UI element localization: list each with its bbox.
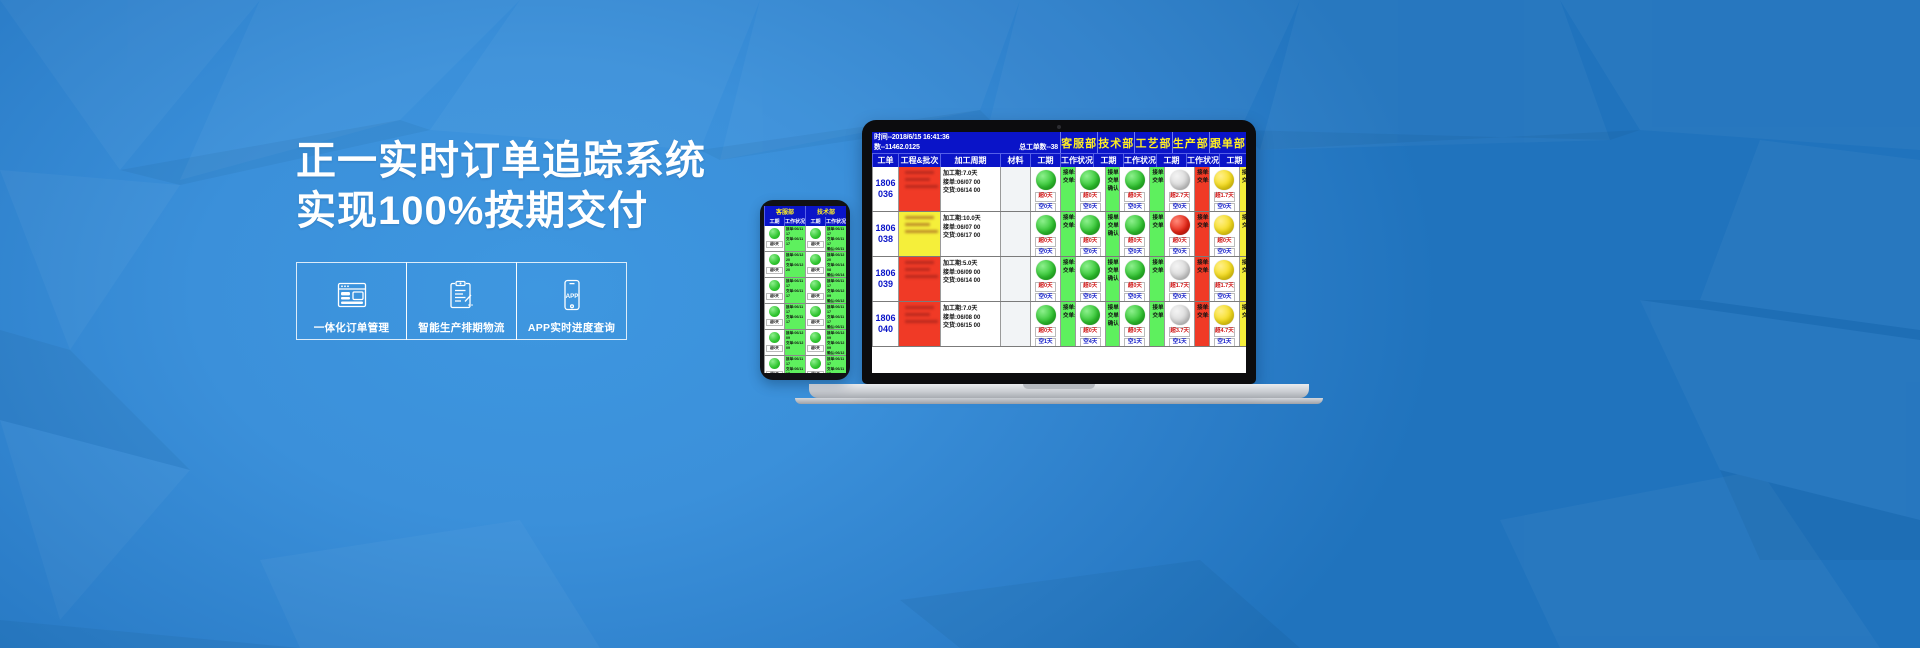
status-date: 交单:06/11 17 [1108, 177, 1118, 185]
status-lamp-green-icon [1125, 170, 1145, 190]
idle-badge: 空0天 [1169, 293, 1190, 302]
status-date: 交单:06/11 17 [1063, 267, 1073, 275]
status-lamp-green-icon [1080, 215, 1100, 235]
phone-status-lamp-green-icon [810, 358, 821, 369]
status-lamp-grey-icon [1170, 305, 1190, 325]
phone-overdue-badge: 超0天 [766, 293, 783, 300]
phone-duration-cell: 超0天 [805, 330, 825, 355]
idle-badge: 空0天 [1035, 293, 1056, 302]
work-status-cell-2[interactable]: 接单:06/11 17交单:06/11 17确认:06/11 17 [1105, 302, 1120, 346]
material-cell [1000, 302, 1030, 346]
work-status-cell-1[interactable]: 接单:06/11 17交单:06/11 17 [1060, 167, 1075, 211]
phone-status-date: 交单:06/11 17 [786, 367, 804, 373]
laptop-base [809, 384, 1309, 398]
duration-cell-4: 超3.7天空1天 [1164, 302, 1194, 346]
phone-overdue-badge: 超0天 [766, 267, 783, 274]
phone-status-lamp-green-icon [769, 254, 780, 265]
idle-badge: 空4天 [1080, 338, 1101, 347]
processing-cycle-cell: 加工期:7.0天接单:06/07 00交货:06/14 00 [940, 167, 1000, 211]
column-header-duration-1: 工期 [1030, 154, 1060, 167]
status-lamp-grey-icon [1170, 260, 1190, 280]
cycle-line: 加工期:7.0天 [943, 305, 998, 314]
phone-screen[interactable]: 客服部 技术部 工期 工作状况 工期 工作状况 超0天接单:06/11 17交单… [764, 206, 846, 373]
phone-status-date: 接单:06/12 09 [786, 331, 804, 341]
phone-column-header: 工期 工作状况 工期 工作状况 [764, 217, 846, 226]
phone-status-lamp-green-icon [769, 228, 780, 239]
feature-card-smart-scheduling[interactable]: 智能生产排期物流 [406, 262, 517, 340]
work-status-cell-4[interactable]: 接单:06/11 17交单: [1194, 302, 1209, 346]
phone-work-status-cell[interactable]: 接单:06/11 17交单:06/11 17 [784, 226, 805, 251]
work-status-cell-2[interactable]: 接单:06/12 20交单:06/14 08确认:06/14 08 [1105, 212, 1120, 256]
status-date: 接单:06/11 17 [1063, 169, 1073, 177]
status-date: 确认:06/11 17 [1108, 275, 1118, 283]
overdue-badge: 超2.7天 [1169, 192, 1190, 202]
table-row[interactable]: 1806036加工期:7.0天接单:06/07 00交货:06/14 00超0天… [872, 167, 1246, 212]
phone-work-status-cell[interactable]: 接单:06/11 17交单:06/11 17确认:06/11 17 [825, 356, 846, 373]
overdue-badge: 超4.7天 [1214, 327, 1235, 337]
table-row[interactable]: 1806040加工期:7.0天接单:06/08 00交货:06/15 00超0天… [872, 302, 1246, 347]
status-lamp-green-icon [1080, 305, 1100, 325]
project-batch-cell [898, 212, 940, 256]
cycle-line: 接单:06/09 00 [943, 269, 998, 278]
status-date: 接单:06/11 17 [1152, 259, 1162, 267]
clipboard-list-icon [449, 277, 475, 313]
phone-table-row[interactable]: 超0天接单:06/11 17交单:06/11 17超0天接单:06/11 17交… [764, 304, 846, 330]
status-lamp-green-icon [1036, 170, 1056, 190]
status-date: 接单: [1242, 214, 1244, 222]
cycle-line: 交货:06/14 00 [943, 277, 998, 286]
phone-dashboard-rows[interactable]: 超0天接单:06/11 17交单:06/11 17超0天接单:06/11 17交… [764, 226, 846, 373]
idle-badge: 空0天 [1169, 248, 1190, 257]
webcam-icon [1057, 125, 1061, 129]
status-date: 接单:06/11 17 [1108, 169, 1118, 177]
status-date: 接单:06/11 17 [1152, 304, 1162, 312]
phone-status-date: 接单:06/11 17 [827, 227, 845, 237]
phone-table-row[interactable]: 超0天接单:06/11 17交单:06/11 17超0天接单:06/11 17交… [764, 226, 846, 252]
phone-duration-cell: 超0天 [805, 226, 825, 251]
phone-work-status-cell[interactable]: 接单:06/11 17交单:06/11 17 [784, 356, 805, 373]
overdue-badge: 超3.7天 [1169, 327, 1190, 337]
status-lamp-green-icon [1125, 260, 1145, 280]
cycle-line: 加工期:10.0天 [943, 215, 998, 224]
headline-line-2: 实现100%按期交付 [296, 186, 716, 236]
phone-overdue-badge: 超0天 [766, 241, 783, 248]
processing-cycle-cell: 加工期:10.0天接单:06/07 00交货:06/17 00 [940, 212, 1000, 256]
phone-work-status-cell[interactable]: 接单:06/12 20交单:06/14 08确认:06/14 08 [825, 252, 846, 277]
project-batch-cell [898, 302, 940, 346]
phone-status-date: 交单:06/11 17 [827, 367, 845, 373]
idle-badge: 空0天 [1080, 203, 1101, 212]
material-cell [1000, 212, 1030, 256]
column-header-status-3: 工作状况 [1186, 154, 1219, 167]
phone-overdue-badge: 超0天 [766, 371, 783, 373]
cycle-line: 交货:06/17 00 [943, 232, 998, 241]
idle-badge: 空0天 [1124, 293, 1145, 302]
work-status-cell-4[interactable]: 接单:06/12 09交单: [1194, 167, 1209, 211]
column-header-status-1: 工作状况 [1060, 154, 1093, 167]
status-date: 交单: [1197, 177, 1207, 185]
feature-list: 一体化订单管理 智能生产排期物流 [296, 262, 626, 340]
idle-badge: 空0天 [1080, 248, 1101, 257]
cycle-line: 接单:06/07 00 [943, 224, 998, 233]
column-header-cycle: 加工周期 [940, 154, 1000, 167]
phone-status-lamp-green-icon [810, 228, 821, 239]
phone-table-row[interactable]: 超0天接单:06/12 20交单:06/12 20超0天接单:06/12 20交… [764, 252, 846, 278]
phone-status-lamp-green-icon [769, 306, 780, 317]
phone-status-lamp-green-icon [769, 332, 780, 343]
phone-column-status-1: 工作状况 [784, 217, 805, 226]
idle-badge: 空0天 [1214, 248, 1235, 257]
laptop-lid: 时间--2018/6/15 16:41:36 数--11462.0125 总工单… [862, 120, 1256, 384]
phone-status-date: 交单:06/11 17 [786, 315, 804, 325]
status-date: 接单:06/11 17 [1063, 304, 1073, 312]
project-batch-cell [898, 257, 940, 301]
status-date: 确认:06/14 08 [1108, 230, 1118, 238]
material-cell [1000, 167, 1030, 211]
phone-table-row[interactable]: 超0天接单:06/11 17交单:06/11 17超0天接单:06/11 17交… [764, 356, 846, 373]
idle-badge: 空0天 [1035, 203, 1056, 212]
status-date: 接单:06/11 17 [1108, 259, 1118, 267]
idle-badge: 空0天 [1214, 203, 1235, 212]
work-status-cell-2[interactable]: 接单:06/11 17交单:06/11 17确认:06/11 17 [1105, 167, 1120, 211]
phone-column-status-2: 工作状况 [825, 217, 846, 226]
duration-cell-5: 超1.7天空0天 [1209, 257, 1239, 301]
promo-banner: 正一实时订单追踪系统 实现100%按期交付 一体化订单管理 [0, 0, 1920, 648]
status-date: 接单:06/12 09 [1197, 169, 1207, 177]
overdue-badge: 超0天 [1124, 237, 1145, 247]
status-date: 交单: [1242, 177, 1244, 185]
status-lamp-yellow-icon [1214, 215, 1234, 235]
column-header-row: 工单 工程&批次 加工周期 材料 工期 工作状况 工期 工作状况 工期 工作状况… [872, 153, 1246, 167]
work-status-cell-3[interactable]: 接单:06/11 17交单:06/11 17 [1149, 302, 1164, 346]
idle-badge: 空0天 [1124, 248, 1145, 257]
work-status-cell-5[interactable]: 接单:交单: [1239, 302, 1246, 346]
phone-status-date: 接单:06/12 20 [786, 253, 804, 263]
status-date: 接单:06/11 17 [1152, 169, 1162, 177]
cycle-line: 加工期:5.0天 [943, 260, 998, 269]
work-status-cell-1[interactable]: 接单:06/11 17交单:06/11 17 [1060, 302, 1075, 346]
work-status-cell-4[interactable]: 接单:06/12 09交单: [1194, 257, 1209, 301]
headline-line-1: 正一实时订单追踪系统 [296, 136, 716, 186]
phone-duration-cell: 超0天 [764, 252, 784, 277]
order-tracking-dashboard[interactable]: 时间--2018/6/15 16:41:36 数--11462.0125 总工单… [872, 132, 1246, 373]
material-cell [1000, 257, 1030, 301]
phone-overdue-badge: 超0天 [807, 319, 824, 326]
idle-badge: 空0天 [1124, 203, 1145, 212]
status-date: 交单: [1242, 312, 1244, 320]
phone-duration-cell: 超0天 [764, 278, 784, 303]
status-date: 交单:06/12 09 [1152, 267, 1162, 275]
phone-status-date: 交单:06/12 20 [786, 263, 804, 273]
phone-duration-cell: 超0天 [764, 304, 784, 329]
overdue-badge: 超0天 [1124, 282, 1145, 292]
status-date: 交单:06/12 09 [1152, 177, 1162, 185]
status-date: 交单: [1242, 222, 1244, 230]
duration-cell-5: 超4.7天空1天 [1209, 302, 1239, 346]
status-lamp-green-icon [1080, 260, 1100, 280]
column-header-duration-2: 工期 [1093, 154, 1123, 167]
cycle-line: 接单:06/07 00 [943, 179, 998, 188]
phone-overdue-badge: 超0天 [807, 345, 824, 352]
column-header-project-batch: 工程&批次 [898, 154, 940, 167]
dashboard-window-icon [337, 277, 367, 313]
cycle-line: 加工期:7.0天 [943, 170, 998, 179]
phone-status-lamp-green-icon [810, 280, 821, 291]
phone-status-date: 接单:06/11 17 [827, 279, 845, 289]
phone-overdue-badge: 超0天 [807, 371, 824, 373]
idle-badge: 空1天 [1124, 338, 1145, 347]
duration-cell-5: 超1.7天空0天 [1209, 167, 1239, 211]
mobile-app-icon: APP [561, 277, 583, 313]
phone-duration-cell: 超0天 [805, 304, 825, 329]
phone-duration-cell: 超0天 [764, 226, 784, 251]
status-date: 接单:06/12 20 [1108, 214, 1118, 222]
phone-work-status-cell[interactable]: 接单:06/12 20交单:06/12 20 [784, 252, 805, 277]
processing-cycle-cell: 加工期:5.0天接单:06/09 00交货:06/14 00 [940, 257, 1000, 301]
duration-cell-1: 超0天空0天 [1030, 212, 1060, 256]
duration-cell-3: 超0天空1天 [1119, 302, 1149, 346]
phone-status-date: 交单:06/14 08 [827, 263, 845, 273]
phone-status-date: 接单:06/11 17 [786, 227, 804, 237]
duration-cell-5: 超0天空0天 [1209, 212, 1239, 256]
work-status-cell-5[interactable]: 接单:交单: [1239, 167, 1246, 211]
idle-badge: 空1天 [1169, 338, 1190, 347]
order-number-cell: 1806040 [872, 302, 898, 346]
dashboard-info-block: 时间--2018/6/15 16:41:36 数--11462.0125 总工单… [872, 132, 1060, 153]
status-date: 接单: [1242, 259, 1244, 267]
phone-overdue-badge: 超0天 [766, 319, 783, 326]
idle-badge: 空1天 [1035, 338, 1056, 347]
status-date: 交单: [1242, 267, 1244, 275]
phone-duration-cell: 超0天 [805, 252, 825, 277]
status-date: 确认:06/11 17 [1108, 320, 1118, 328]
phone-status-date: 交单:06/11 17 [827, 237, 845, 247]
duration-cell-2: 超0天空4天 [1075, 302, 1105, 346]
phone-work-status-cell[interactable]: 接单:06/11 17交单:06/11 17确认:06/11 17 [825, 304, 846, 329]
phone-column-duration-2: 工期 [805, 217, 825, 226]
order-number-cell: 1806036 [872, 167, 898, 211]
phone-work-status-cell[interactable]: 接单:06/11 17交单:06/11 17确认:06/11 17 [825, 226, 846, 251]
phone-work-status-cell[interactable]: 接单:06/11 17交单:06/12 09确认:06/12 09 [825, 278, 846, 303]
phone-status-date: 交单:06/11 17 [786, 289, 804, 299]
work-status-cell-3[interactable]: 接单:06/14 08交单:06/14 14 [1149, 212, 1164, 256]
phone-status-date: 交单:06/12 09 [786, 341, 804, 351]
column-header-order: 工单 [872, 154, 898, 167]
overdue-badge: 超0天 [1080, 282, 1101, 292]
phone-body: 客服部 技术部 工期 工作状况 工期 工作状况 超0天接单:06/11 17交单… [760, 200, 850, 380]
overdue-badge: 超0天 [1035, 327, 1056, 337]
phone-status-date: 交单:06/11 17 [786, 237, 804, 247]
department-title-production: 生产部 [1172, 132, 1209, 153]
work-status-cell-4[interactable]: 接单:06/14 14交单: [1194, 212, 1209, 256]
status-lamp-grey-icon [1170, 170, 1190, 190]
status-date: 接单:06/11 17 [1197, 304, 1207, 312]
phone-duration-cell: 超0天 [805, 278, 825, 303]
status-date: 接单:06/14 08 [1152, 214, 1162, 222]
idle-badge: 空0天 [1214, 293, 1235, 302]
work-status-cell-1[interactable]: 接单:06/11 17交单:06/11 17 [1060, 257, 1075, 301]
dashboard-total-orders: 总工单数--38 [1019, 143, 1058, 153]
status-date: 交单:06/11 17 [1152, 312, 1162, 320]
phone-status-lamp-green-icon [769, 358, 780, 369]
status-date: 交单: [1197, 312, 1207, 320]
laptop-mockup: 时间--2018/6/15 16:41:36 数--11462.0125 总工单… [862, 120, 1323, 404]
phone-table-row[interactable]: 超0天接单:06/11 17交单:06/11 17超0天接单:06/11 17交… [764, 278, 846, 304]
work-status-cell-5[interactable]: 接单:交单: [1239, 257, 1246, 301]
laptop-foot [795, 398, 1323, 404]
status-date: 接单: [1242, 169, 1244, 177]
phone-status-lamp-green-icon [810, 332, 821, 343]
dashboard-header: 时间--2018/6/15 16:41:36 数--11462.0125 总工单… [872, 132, 1246, 153]
phone-duration-cell: 超0天 [805, 356, 825, 373]
department-title-merchandising: 跟单部 [1209, 132, 1246, 153]
idle-badge: 空0天 [1169, 203, 1190, 212]
phone-column-duration-1: 工期 [764, 217, 784, 226]
phone-status-date: 交单:06/12 09 [827, 341, 845, 351]
overdue-badge: 超0天 [1124, 192, 1145, 202]
phone-duration-cell: 超0天 [764, 330, 784, 355]
phone-notch [790, 200, 820, 206]
phone-table-row[interactable]: 超0天接单:06/12 09交单:06/12 09超0天接单:06/12 09交… [764, 330, 846, 356]
duration-cell-3: 超0天空0天 [1119, 167, 1149, 211]
dashboard-count: 数--11462.0125 [874, 144, 920, 151]
feature-label: APP实时进度查询 [528, 320, 615, 335]
overdue-badge: 超1.7天 [1214, 192, 1235, 202]
laptop-trackpad-notch [1023, 384, 1095, 389]
column-header-material: 材料 [1000, 154, 1030, 167]
phone-status-date: 接单:06/11 17 [827, 305, 845, 315]
phone-status-date: 接单:06/11 17 [827, 357, 845, 367]
phone-status-date: 接单:06/11 17 [786, 279, 804, 289]
duration-cell-1: 超0天空0天 [1030, 167, 1060, 211]
work-status-cell-1[interactable]: 接单:06/12 20交单:06/12 20 [1060, 212, 1075, 256]
idle-badge: 空0天 [1080, 293, 1101, 302]
overdue-badge: 超0天 [1035, 192, 1056, 202]
status-date: 交单:06/14 08 [1108, 222, 1118, 230]
device-mockups: 时间--2018/6/15 16:41:36 数--11462.0125 总工单… [740, 110, 1380, 530]
cycle-line: 交货:06/14 00 [943, 187, 998, 196]
status-lamp-green-icon [1125, 215, 1145, 235]
phone-department-customer-service: 客服部 [764, 206, 805, 217]
status-date: 交单:06/11 17 [1108, 267, 1118, 275]
status-lamp-green-icon [1080, 170, 1100, 190]
phone-status-date: 交单:06/12 09 [827, 289, 845, 299]
status-date: 接单: [1242, 304, 1244, 312]
status-date: 接单:06/12 20 [1063, 214, 1073, 222]
status-date: 交单: [1197, 222, 1207, 230]
overdue-badge: 超0天 [1035, 237, 1056, 247]
overdue-badge: 超0天 [1124, 327, 1145, 337]
status-lamp-yellow-icon [1214, 260, 1234, 280]
overdue-badge: 超0天 [1169, 237, 1190, 247]
status-date: 交单:06/12 20 [1063, 222, 1073, 230]
phone-overdue-badge: 超0天 [766, 345, 783, 352]
column-header-duration-3: 工期 [1156, 154, 1186, 167]
overdue-badge: 超0天 [1080, 327, 1101, 337]
phone-work-status-cell[interactable]: 接单:06/11 17交单:06/11 17 [784, 278, 805, 303]
phone-status-date: 接单:06/11 17 [786, 305, 804, 315]
phone-status-date: 接单:06/12 09 [827, 331, 845, 341]
department-header-row: 客服部 技术部 工艺部 生产部 跟单部 [1060, 132, 1246, 153]
duration-cell-2: 超0天空0天 [1075, 257, 1105, 301]
phone-overdue-badge: 超0天 [807, 293, 824, 300]
department-title-technical: 技术部 [1097, 132, 1134, 153]
department-title-process: 工艺部 [1134, 132, 1171, 153]
duration-cell-2: 超0天空0天 [1075, 167, 1105, 211]
duration-cell-3: 超0天空0天 [1119, 257, 1149, 301]
status-date: 接单:06/11 17 [1108, 304, 1118, 312]
duration-cell-4: 超1.7天空0天 [1164, 257, 1194, 301]
laptop-screen[interactable]: 时间--2018/6/15 16:41:36 数--11462.0125 总工单… [872, 132, 1246, 373]
phone-status-lamp-green-icon [769, 280, 780, 291]
column-header-status-2: 工作状况 [1123, 154, 1156, 167]
work-status-cell-3[interactable]: 接单:06/11 17交单:06/12 09 [1149, 257, 1164, 301]
headline-block: 正一实时订单追踪系统 实现100%按期交付 [296, 136, 716, 237]
work-status-cell-5[interactable]: 接单:交单: [1239, 212, 1246, 256]
phone-work-status-cell[interactable]: 接单:06/11 17交单:06/11 17 [784, 304, 805, 329]
idle-badge: 空1天 [1214, 338, 1235, 347]
column-header-duration-4: 工期 [1219, 154, 1246, 167]
overdue-badge: 超0天 [1080, 237, 1101, 247]
overdue-badge: 超1.7天 [1214, 282, 1235, 292]
duration-cell-1: 超0天空0天 [1030, 257, 1060, 301]
cycle-line: 交货:06/15 00 [943, 322, 998, 331]
table-row[interactable]: 1806039加工期:5.0天接单:06/09 00交货:06/14 00超0天… [872, 257, 1246, 302]
idle-badge: 空0天 [1035, 248, 1056, 257]
phone-status-date: 交单:06/11 17 [827, 315, 845, 325]
work-status-cell-2[interactable]: 接单:06/11 17交单:06/11 17确认:06/11 17 [1105, 257, 1120, 301]
feature-card-order-management[interactable]: 一体化订单管理 [296, 262, 407, 340]
phone-mockup: 客服部 技术部 工期 工作状况 工期 工作状况 超0天接单:06/11 17交单… [760, 200, 850, 380]
phone-status-date: 接单:06/11 17 [786, 357, 804, 367]
work-status-cell-3[interactable]: 接单:06/11 17交单:06/12 09 [1149, 167, 1164, 211]
phone-department-technical: 技术部 [805, 206, 846, 217]
status-lamp-yellow-icon [1214, 170, 1234, 190]
dashboard-time: 时间--2018/6/15 16:41:36 [874, 133, 1058, 143]
duration-cell-1: 超0天空1天 [1030, 302, 1060, 346]
status-lamp-green-icon [1036, 260, 1056, 280]
feature-label: 一体化订单管理 [314, 320, 390, 335]
phone-duration-cell: 超0天 [764, 356, 784, 373]
status-date: 交单:06/11 17 [1063, 312, 1073, 320]
overdue-badge: 超0天 [1080, 192, 1101, 202]
order-number-cell: 1806039 [872, 257, 898, 301]
overdue-badge: 超0天 [1035, 282, 1056, 292]
status-lamp-green-icon [1125, 305, 1145, 325]
status-date: 交单: [1197, 267, 1207, 275]
phone-work-status-cell[interactable]: 接单:06/12 09交单:06/12 09 [784, 330, 805, 355]
dashboard-rows[interactable]: 1806036加工期:7.0天接单:06/07 00交货:06/14 00超0天… [872, 167, 1246, 347]
feature-label: 智能生产排期物流 [418, 320, 504, 335]
overdue-badge: 超0天 [1214, 237, 1235, 247]
status-date: 接单:06/12 09 [1197, 259, 1207, 267]
status-date: 确认:06/11 17 [1108, 185, 1118, 193]
feature-card-app-tracking[interactable]: APP APP实时进度查询 [516, 262, 627, 340]
phone-overdue-badge: 超0天 [807, 241, 824, 248]
phone-department-header: 客服部 技术部 [764, 206, 846, 217]
duration-cell-2: 超0天空0天 [1075, 212, 1105, 256]
status-date: 接单:06/14 14 [1197, 214, 1207, 222]
phone-overdue-badge: 超0天 [807, 267, 824, 274]
table-row[interactable]: 1806038加工期:10.0天接单:06/07 00交货:06/17 00超0… [872, 212, 1246, 257]
svg-text:APP: APP [565, 293, 578, 300]
status-lamp-green-icon [1036, 215, 1056, 235]
status-date: 交单:06/11 17 [1063, 177, 1073, 185]
status-date: 接单:06/11 17 [1063, 259, 1073, 267]
duration-cell-4: 超2.7天空0天 [1164, 167, 1194, 211]
phone-work-status-cell[interactable]: 接单:06/12 09交单:06/12 09确认:06/12 09 [825, 330, 846, 355]
status-date: 交单:06/11 17 [1108, 312, 1118, 320]
